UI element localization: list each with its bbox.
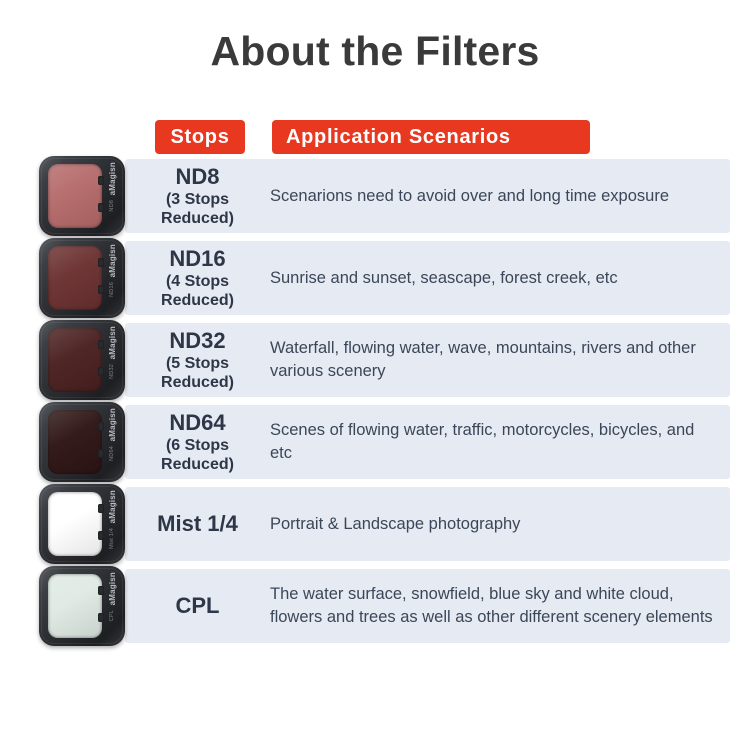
brand-label: aMagisn [108,326,117,359]
table-row: aMagisn ND64 ND64 (6 Stops Reduced) Scen… [0,401,750,483]
table-row: aMagisn Mist 1/4 Mist 1/4 Portrait & Lan… [0,483,750,565]
filter-name: ND32 [129,328,266,353]
table-row: aMagisn CPL CPL The water surface, snowf… [0,565,750,647]
filter-glass [48,492,102,556]
filter-stops-reduced: (4 Stops Reduced) [129,272,266,310]
filter-thumbnail: aMagisn ND64 [39,402,125,482]
brand-label: aMagisn [108,572,117,605]
brand-label: aMagisn [108,244,117,277]
application-scenario-cell: Scenarions need to avoid over and long t… [270,185,750,208]
application-scenario-cell: The water surface, snowfield, blue sky a… [270,583,750,629]
filter-info-page: About the Filters Stops Application Scen… [0,0,750,750]
filter-branding: aMagisn Mist 1/4 [104,490,120,558]
model-label: Mist 1/4 [109,528,115,549]
filter-thumbnail: aMagisn ND32 [39,320,125,400]
table-row: aMagisn ND16 ND16 (4 Stops Reduced) Sunr… [0,237,750,319]
application-scenario-cell: Portrait & Landscape photography [270,513,750,536]
stops-cell: ND8 (3 Stops Reduced) [125,164,270,229]
stops-cell: ND16 (4 Stops Reduced) [125,246,270,311]
filter-name: ND8 [129,164,266,189]
filter-thumbnail: aMagisn Mist 1/4 [39,484,125,564]
brand-label: aMagisn [108,408,117,441]
filter-stops-reduced: (5 Stops Reduced) [129,354,266,392]
model-label: ND8 [109,200,115,212]
filter-glass [48,574,102,638]
filter-glass [48,410,102,474]
filter-thumbnail: aMagisn ND16 [39,238,125,318]
stops-cell: ND32 (5 Stops Reduced) [125,328,270,393]
header-badge-stops: Stops [155,120,245,154]
stops-cell: CPL [125,593,270,618]
table-row: aMagisn ND32 ND32 (5 Stops Reduced) Wate… [0,319,750,401]
filter-name: ND16 [129,246,266,271]
filter-stops-reduced: (3 Stops Reduced) [129,190,266,228]
filter-thumbnail: aMagisn ND8 [39,156,125,236]
table-row: aMagisn ND8 ND8 (3 Stops Reduced) Scenar… [0,155,750,237]
filter-thumbnail: aMagisn CPL [39,566,125,646]
table-header: Stops Application Scenarios [0,120,750,154]
application-scenario-cell: Sunrise and sunset, seascape, forest cre… [270,267,750,290]
application-scenario-cell: Waterfall, flowing water, wave, mountain… [270,337,750,383]
filter-table-body: aMagisn ND8 ND8 (3 Stops Reduced) Scenar… [0,155,750,647]
brand-label: aMagisn [108,490,117,523]
brand-label: aMagisn [108,162,117,195]
filter-branding: aMagisn CPL [104,572,120,640]
model-label: CPL [109,610,115,621]
filter-branding: aMagisn ND32 [104,326,120,394]
stops-cell: ND64 (6 Stops Reduced) [125,410,270,475]
filter-branding: aMagisn ND8 [104,162,120,230]
filter-branding: aMagisn ND16 [104,244,120,312]
header-badge-application-scenarios: Application Scenarios [272,120,590,154]
filter-name: CPL [129,593,266,618]
model-label: ND32 [109,364,115,379]
stops-cell: Mist 1/4 [125,511,270,536]
filter-glass [48,328,102,392]
filter-glass [48,164,102,228]
filter-name: ND64 [129,410,266,435]
model-label: ND64 [109,446,115,461]
filter-stops-reduced: (6 Stops Reduced) [129,436,266,474]
model-label: ND16 [109,282,115,297]
application-scenario-cell: Scenes of flowing water, traffic, motorc… [270,419,750,465]
filter-name: Mist 1/4 [129,511,266,536]
filter-branding: aMagisn ND64 [104,408,120,476]
filter-glass [48,246,102,310]
page-title: About the Filters [0,28,750,75]
